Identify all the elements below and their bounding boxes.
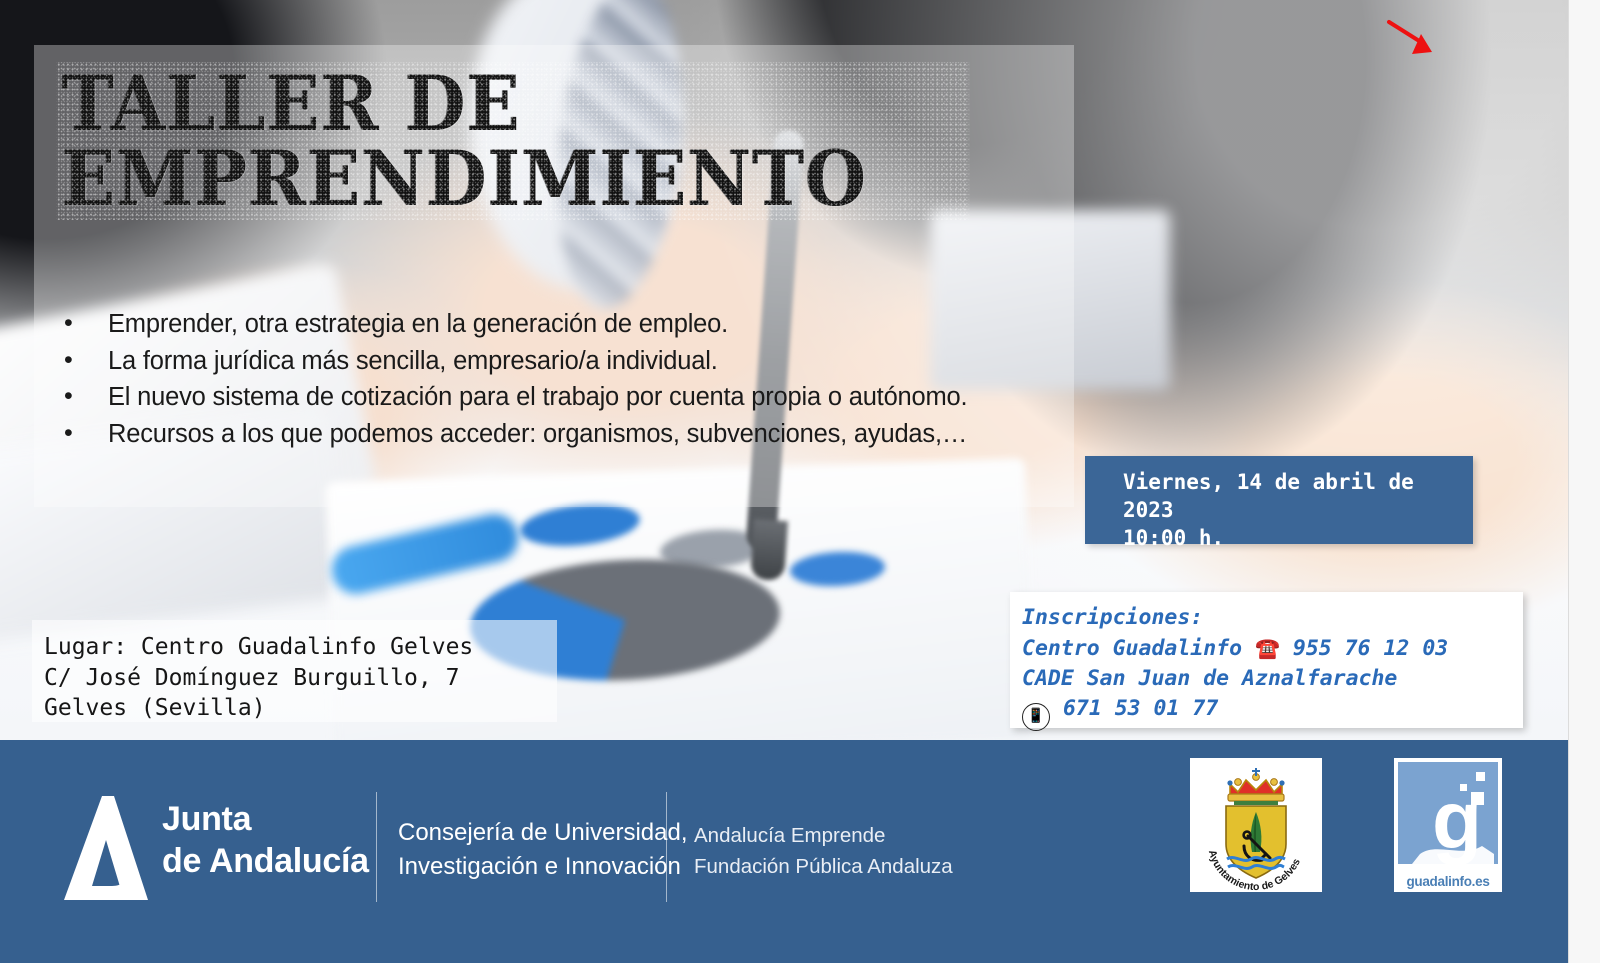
footer-bar: Junta de Andalucía Consejería de Univers… [0, 740, 1568, 963]
location-line-1: Lugar: Centro Guadalinfo Gelves [44, 632, 557, 663]
telephone-icon: ☎️ [1255, 636, 1280, 660]
list-item: El nuevo sistema de cotización para el t… [60, 379, 1050, 416]
consejeria-label: Consejería de Universidad, Investigación… [398, 816, 688, 884]
registration-cade-line: CADE San Juan de Aznalfarache [1022, 664, 1523, 694]
title-line-1: TALLER DE [62, 66, 964, 141]
date-line-1: Viernes, 14 de abril de [1123, 468, 1473, 496]
registration-mobile-phone: 671 53 01 77 [1063, 696, 1218, 721]
date-badge: Viernes, 14 de abril de 2023 10:00 h. [1085, 456, 1473, 544]
guadalinfo-mark: g [1398, 762, 1498, 864]
footer-divider-2 [666, 792, 667, 902]
date-line-2: 2023 [1123, 496, 1473, 524]
guadalinfo-g-icon: g [1398, 762, 1498, 864]
mobile-phone-icon: 📱 [1022, 703, 1050, 731]
fundacion-line-1: Andalucía Emprende [694, 820, 953, 851]
coat-of-arms-icon: Ayuntamiento de Gelves [1190, 758, 1322, 892]
junta-de-andalucia-wordmark: Junta de Andalucía [162, 798, 369, 882]
location-panel: Lugar: Centro Guadalinfo Gelves C/ José … [32, 620, 557, 722]
topics-list: Emprender, otra estrategia en la generac… [60, 306, 1050, 452]
consejeria-line-2: Investigación e Innovación [398, 850, 688, 884]
page-title: TALLER DE EMPRENDIMIENTO [62, 66, 964, 216]
junta-line-2: de Andalucía [162, 840, 369, 882]
title-line-2: EMPRENDIMIENTO [62, 141, 964, 216]
fundacion-line-2: Fundación Pública Andaluza [694, 851, 953, 882]
photo-pen-tip [750, 519, 788, 581]
consejeria-line-1: Consejería de Universidad, [398, 816, 688, 850]
list-item: La forma jurídica más sencilla, empresar… [60, 343, 1050, 380]
registration-heading: Inscripciones: [1022, 603, 1523, 633]
registration-mobile-line: 📱 671 53 01 77 [1022, 694, 1523, 731]
junta-line-1: Junta [162, 798, 369, 840]
list-item: Emprender, otra estrategia en la generac… [60, 306, 1050, 343]
date-line-3: 10:00 h. [1123, 524, 1473, 552]
poster: TALLER DE EMPRENDIMIENTO Emprender, otra… [0, 0, 1568, 963]
guadalinfo-logo: g guadalinfo.es [1394, 758, 1502, 892]
right-margin [1568, 0, 1600, 963]
list-item: Recursos a los que podemos acceder: orga… [60, 416, 1050, 453]
page-canvas: TALLER DE EMPRENDIMIENTO Emprender, otra… [0, 0, 1600, 963]
location-line-2: C/ José Domínguez Burguillo, 7 [44, 663, 557, 694]
registration-panel: Inscripciones: Centro Guadalinfo ☎️ 955 … [1010, 592, 1523, 728]
fundacion-label: Andalucía Emprende Fundación Pública And… [694, 820, 953, 882]
red-arrow-cursor [1386, 18, 1438, 58]
registration-center-label: Centro Guadalinfo [1022, 636, 1242, 661]
registration-center-line: Centro Guadalinfo ☎️ 955 76 12 03 [1022, 633, 1523, 664]
location-line-3: Gelves (Sevilla) [44, 693, 557, 724]
junta-de-andalucia-logo-icon [62, 794, 150, 902]
footer-divider-1 [376, 792, 377, 902]
registration-center-phone: 955 76 12 03 [1293, 636, 1448, 661]
ayuntamiento-de-gelves-logo: Ayuntamiento de Gelves [1190, 758, 1322, 892]
guadalinfo-caption: guadalinfo.es [1394, 874, 1502, 889]
